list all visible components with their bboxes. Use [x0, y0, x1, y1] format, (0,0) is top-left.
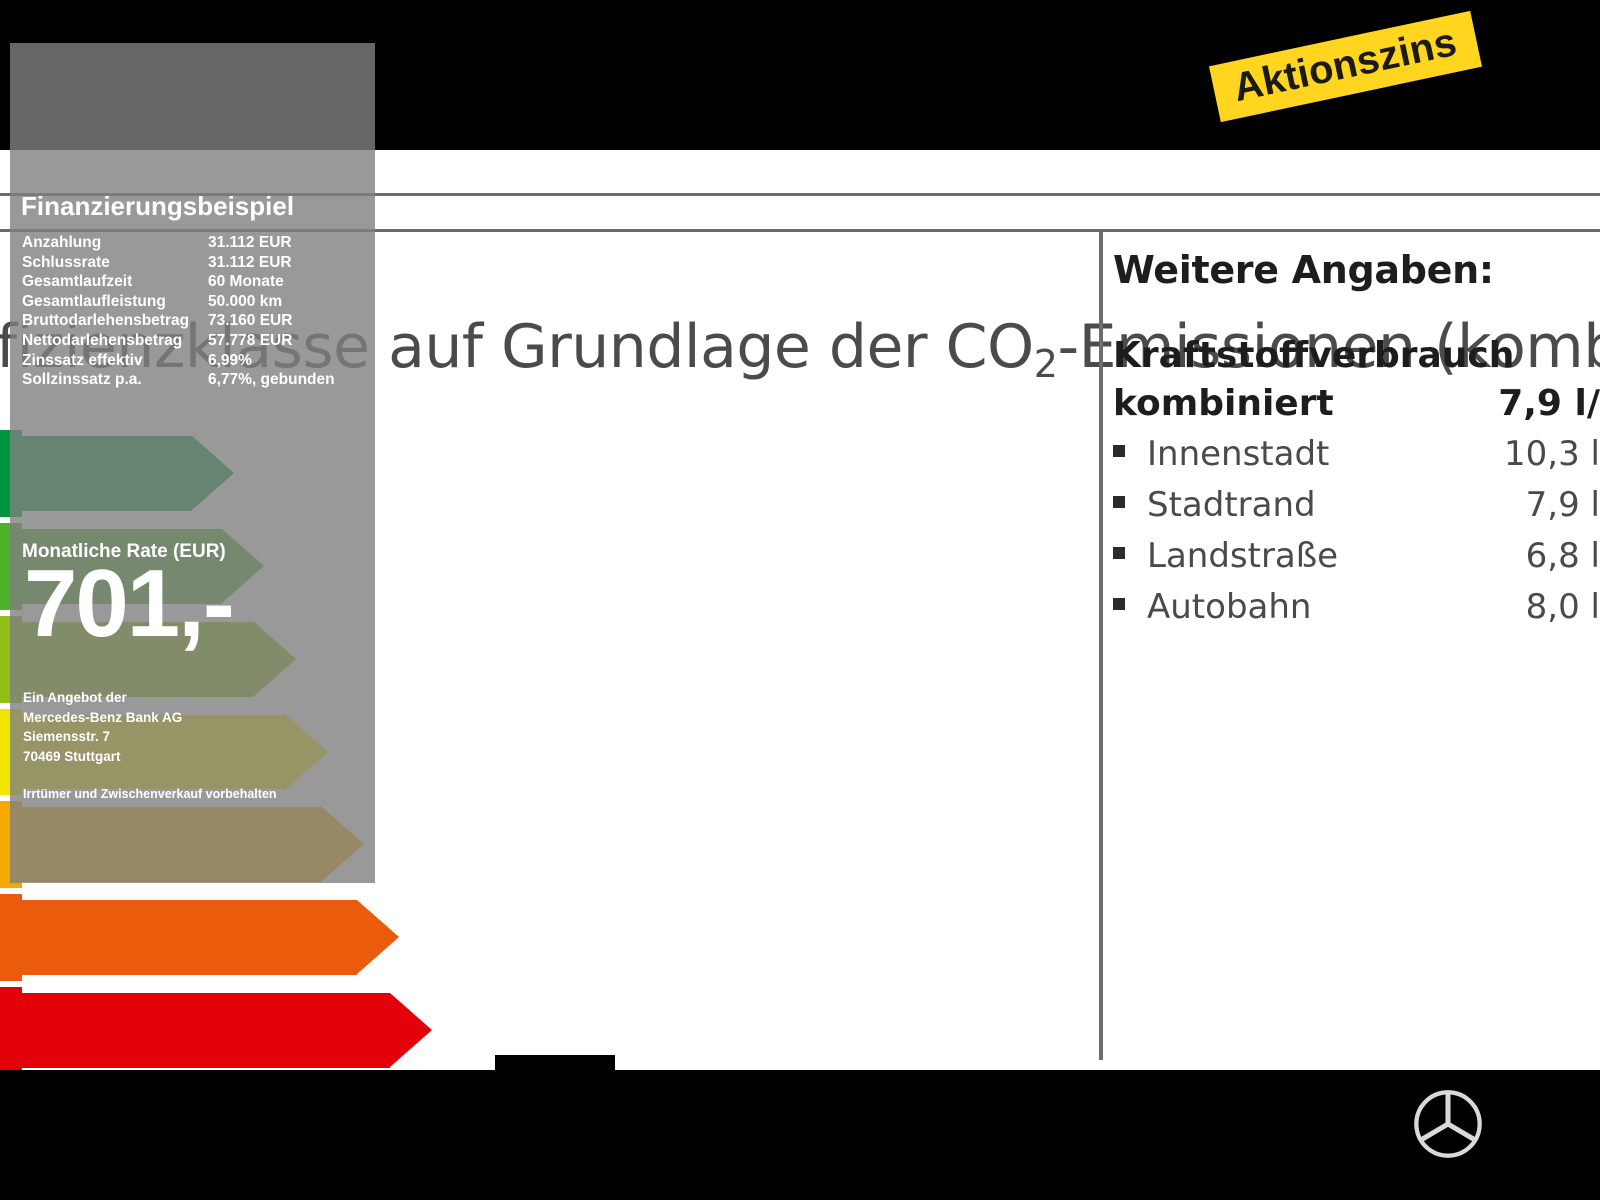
fuel-consumption-item: Autobahn8,0 l — [1113, 587, 1600, 638]
fuel-consumption-item-value: 6,8 l — [1526, 536, 1600, 576]
bullet-icon — [1113, 598, 1125, 610]
fuel-consumption-combined-label: kombiniert — [1113, 380, 1334, 428]
financing-row: Zinssatz effektiv6,99% — [22, 351, 362, 371]
fuel-consumption-item-value: 7,9 l — [1526, 485, 1600, 525]
financing-table: Anzahlung31.112 EURSchlussrate31.112 EUR… — [22, 233, 362, 390]
fuel-consumption-item-label: Innenstadt — [1147, 434, 1329, 474]
bullet-icon — [1113, 496, 1125, 508]
fuel-consumption-item-value: 10,3 l — [1504, 434, 1600, 474]
energy-class-strip — [0, 894, 22, 981]
energy-class-arrow-tip — [357, 900, 399, 974]
energy-class-strip — [0, 987, 22, 1074]
fuel-consumption-title-line1: Kraftstoffverbrauch — [1113, 332, 1600, 380]
fuel-consumption-item-value: 8,0 l — [1526, 587, 1600, 627]
financing-row-value: 31.112 EUR — [208, 253, 362, 273]
fuel-consumption-combined-row: kombiniert 7,9 l/ — [1113, 380, 1600, 428]
mercedes-star-icon — [1412, 1088, 1484, 1160]
bank-address-line: Ein Angebot der — [23, 688, 182, 708]
bank-address-line: Siemensstr. 7 — [23, 727, 182, 747]
financing-title: Finanzierungsbeispiel — [21, 191, 294, 222]
financing-row: Schlussrate31.112 EUR — [22, 253, 362, 273]
monthly-rate-value: 701,- — [24, 556, 233, 652]
financing-row: Anzahlung31.112 EUR — [22, 233, 362, 253]
fuel-consumption-combined-value: 7,9 l/ — [1498, 380, 1600, 428]
bank-address: Ein Angebot derMercedes-Benz Bank AGSiem… — [23, 688, 182, 766]
fuel-consumption-list: Innenstadt10,3 lStadtrand7,9 lLandstraße… — [1113, 434, 1600, 638]
financing-row-key: Nettodarlehensbetrag — [22, 331, 208, 351]
financing-row-key: Gesamtlaufleistung — [22, 292, 208, 312]
bullet-icon — [1113, 547, 1125, 559]
financing-row-key: Schlussrate — [22, 253, 208, 273]
financing-row-value: 73.160 EUR — [208, 311, 362, 331]
financing-row-value: 57.778 EUR — [208, 331, 362, 351]
financing-row-value: 31.112 EUR — [208, 233, 362, 253]
financing-row-key: Zinssatz effektiv — [22, 351, 208, 371]
fuel-consumption-item-label: Landstraße — [1147, 536, 1338, 576]
financing-row-value: 6,99% — [208, 351, 362, 371]
background-heading-subscript: 2 — [1034, 342, 1058, 386]
bank-address-line: Mercedes-Benz Bank AG — [23, 708, 182, 728]
fuel-consumption-item: Stadtrand7,9 l — [1113, 485, 1600, 536]
financing-row: Nettodarlehensbetrag57.778 EUR — [22, 331, 362, 351]
divider-vertical — [1099, 232, 1103, 1060]
financing-row-key: Bruttodarlehensbetrag — [22, 311, 208, 331]
financing-overlay-panel: Finanzierungsbeispiel Anzahlung31.112 EU… — [10, 43, 375, 883]
financing-row-value: 50.000 km — [208, 292, 362, 312]
additional-info-heading: Weitere Angaben: — [1113, 248, 1600, 292]
additional-info-panel: Weitere Angaben: Kraftstoffverbrauch kom… — [1113, 248, 1600, 638]
financing-row: Sollzinssatz p.a.6,77%, gebunden — [22, 370, 362, 390]
financing-row-key: Anzahlung — [22, 233, 208, 253]
fuel-consumption-item: Landstraße6,8 l — [1113, 536, 1600, 587]
financing-row: Gesamtlaufzeit60 Monate — [22, 272, 362, 292]
energy-class-arrow — [22, 900, 357, 975]
financing-row-key: Gesamtlaufzeit — [22, 272, 208, 292]
advert-canvas: Effizienzklasse auf Grundlage der CO2-Em… — [0, 0, 1600, 1200]
financing-row: Bruttodarlehensbetrag73.160 EUR — [22, 311, 362, 331]
footer-bar — [0, 1070, 1600, 1200]
fuel-consumption-title: Kraftstoffverbrauch kombiniert 7,9 l/ — [1113, 332, 1600, 428]
bank-address-line: 70469 Stuttgart — [23, 747, 182, 767]
legal-disclaimer: Irrtümer und Zwischenverkauf vorbehalten — [23, 787, 277, 801]
financing-row: Gesamtlaufleistung50.000 km — [22, 292, 362, 312]
financing-row-value: 60 Monate — [208, 272, 362, 292]
fuel-consumption-item-label: Autobahn — [1147, 587, 1311, 627]
bullet-icon — [1113, 445, 1125, 457]
energy-class-arrow — [22, 993, 390, 1068]
fuel-consumption-item: Innenstadt10,3 l — [1113, 434, 1600, 485]
financing-row-value: 6,77%, gebunden — [208, 370, 362, 390]
energy-class-arrow-tip — [390, 993, 432, 1067]
financing-row-key: Sollzinssatz p.a. — [22, 370, 208, 390]
fuel-consumption-item-label: Stadtrand — [1147, 485, 1316, 525]
